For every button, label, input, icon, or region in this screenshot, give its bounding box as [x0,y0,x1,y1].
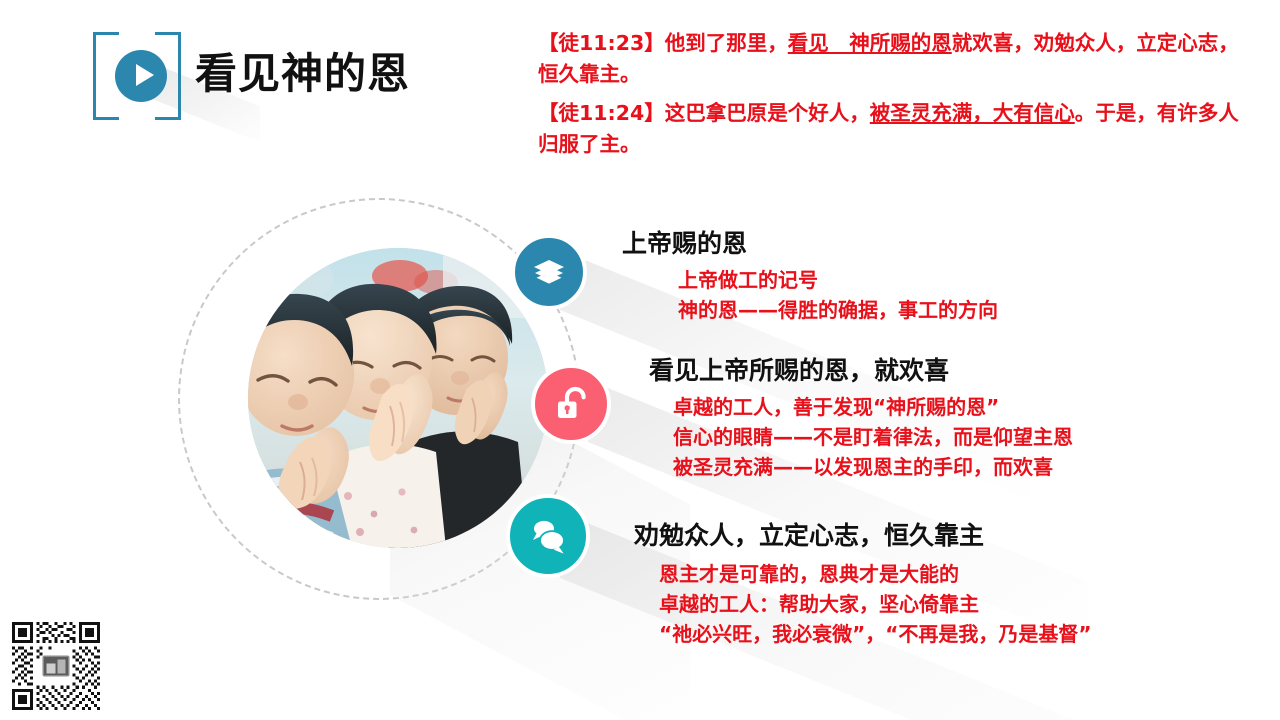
page-title: 看见神的恩 [195,40,410,101]
section-heading: 看见上帝所赐的恩，就欢喜 [649,355,1073,386]
verse-part-underlined: 看见 神所赐的恩 [788,31,952,55]
speech-bubbles-icon[interactable] [506,494,590,578]
section-heading: 上帝赐的恩 [622,228,998,259]
bullet-line: 卓越的工人：帮助大家，坚心倚靠主 [659,589,1092,619]
unlock-icon[interactable] [531,364,611,444]
play-button-icon [115,50,167,102]
content-section-2: 看见上帝所赐的恩，就欢喜 卓越的工人，善于发现“神所赐的恩” 信心的眼睛——不是… [649,355,1073,482]
section-bullets: 恩主才是可靠的，恩典才是大能的 卓越的工人：帮助大家，坚心倚靠主 “祂必兴旺，我… [659,559,1092,649]
content-section-3: 劝勉众人，立定心志，恒久靠主 恩主才是可靠的，恩典才是大能的 卓越的工人：帮助大… [634,520,1092,649]
bullet-line: 卓越的工人，善于发现“神所赐的恩” [673,392,1073,422]
bullet-line: “祂必兴旺，我必衰微”，“不再是我，乃是基督” [659,619,1092,649]
layers-icon[interactable] [511,234,587,310]
slide-root: 看见神的恩 【徒11:23】他到了那里，看见 神所赐的恩就欢喜，劝勉众人，立定心… [0,0,1280,720]
verse-part-underlined: 被圣灵充满，大有信心 [870,101,1075,125]
bullet-line: 神的恩——得胜的确据，事工的方向 [678,295,998,325]
section-bullets: 上帝做工的记号 神的恩——得胜的确据，事工的方向 [678,265,998,325]
qr-code[interactable] [12,622,100,710]
scripture-block: 【徒11:23】他到了那里，看见 神所赐的恩就欢喜，劝勉众人，立定心志，恒久靠主… [538,28,1258,168]
section-heading: 劝勉众人，立定心志，恒久靠主 [634,520,1092,551]
section-bullets: 卓越的工人，善于发现“神所赐的恩” 信心的眼睛——不是盯着律法，而是仰望主恩 被… [673,392,1073,482]
verse-ref: 【徒11:23】 [538,31,665,55]
brand-logo [93,32,181,120]
verse-part: 这巴拿巴原是个好人， [665,101,870,125]
praying-children-photo [248,248,548,548]
bullet-line: 恩主才是可靠的，恩典才是大能的 [659,559,1092,589]
verse-ref: 【徒11:24】 [538,101,665,125]
bullet-line: 信心的眼睛——不是盯着律法，而是仰望主恩 [673,422,1073,452]
scripture-verse: 【徒11:24】这巴拿巴原是个好人，被圣灵充满，大有信心。于是，有许多人归服了主… [538,98,1258,160]
content-section-1: 上帝赐的恩 上帝做工的记号 神的恩——得胜的确据，事工的方向 [622,228,998,325]
bullet-line: 被圣灵充满——以发现恩主的手印，而欢喜 [673,452,1073,482]
verse-part: 他到了那里， [665,31,788,55]
scripture-verse: 【徒11:23】他到了那里，看见 神所赐的恩就欢喜，劝勉众人，立定心志，恒久靠主… [538,28,1258,90]
bullet-line: 上帝做工的记号 [678,265,998,295]
